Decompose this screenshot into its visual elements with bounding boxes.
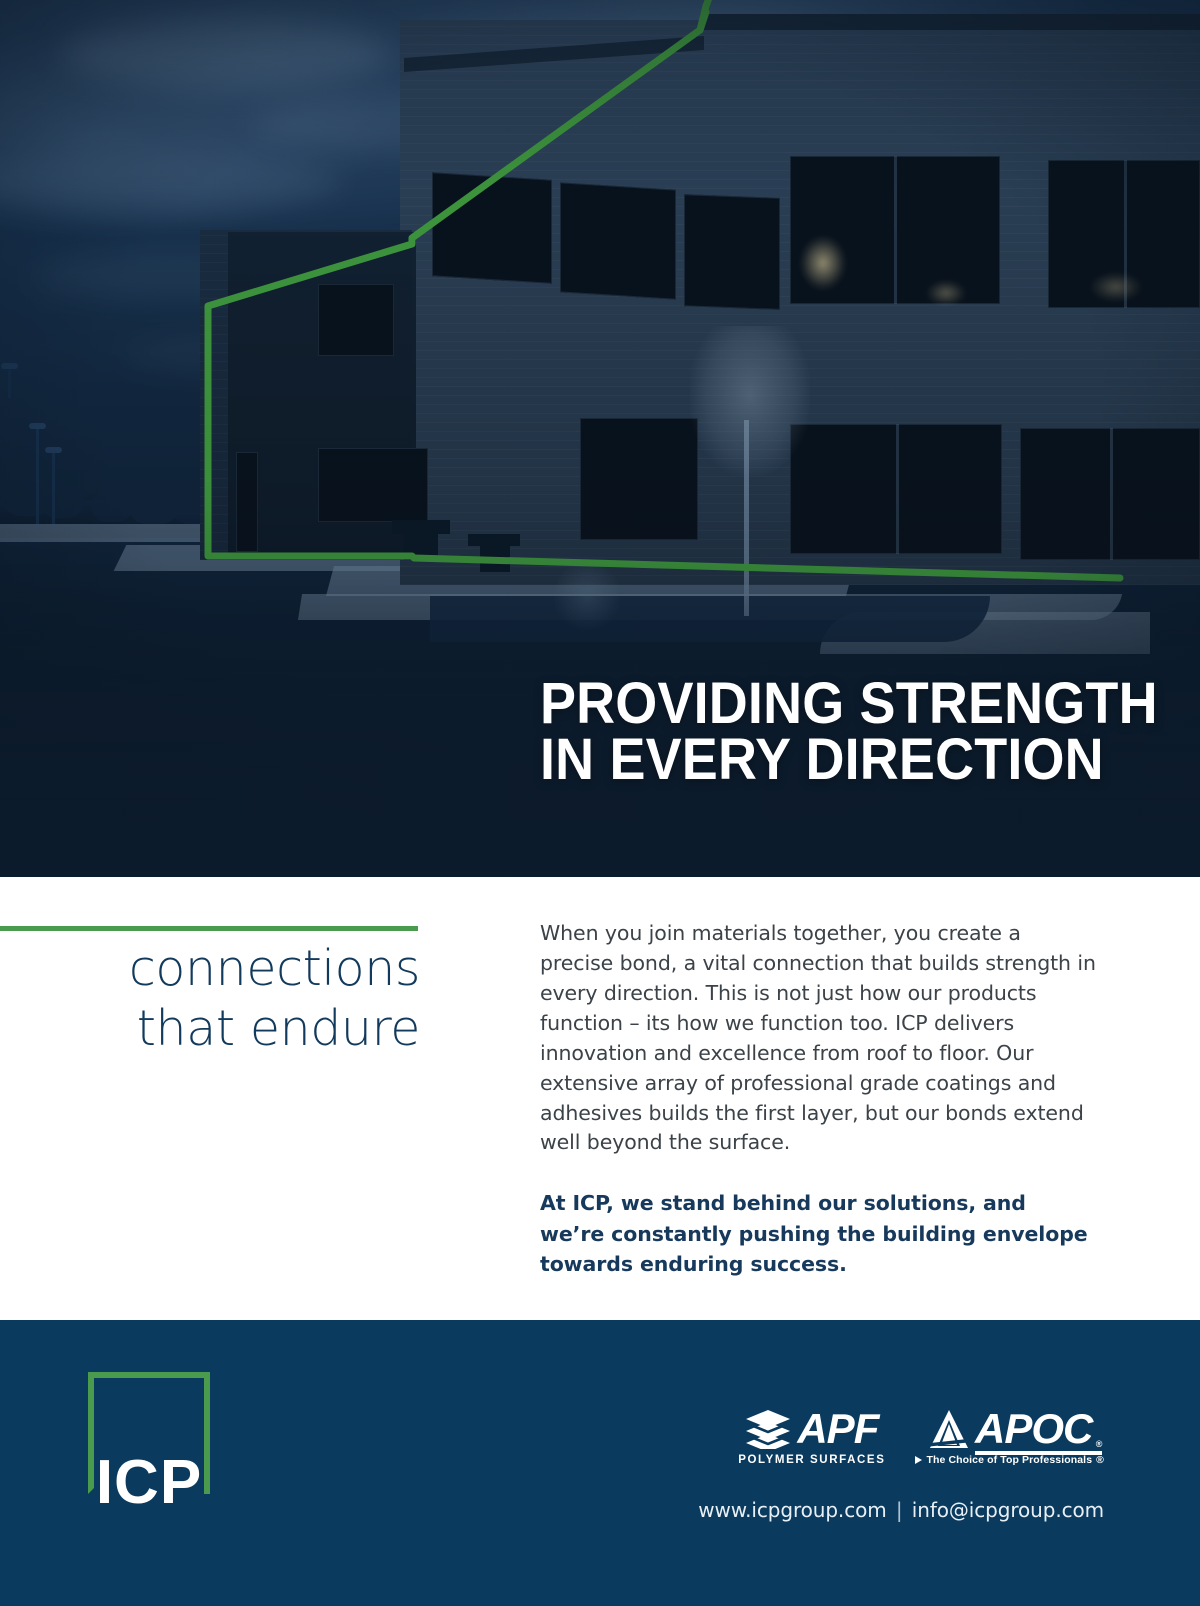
body-paragraph: When you join materials together, you cr… (540, 919, 1096, 1158)
apoc-logo[interactable]: APOC ® The Choice of Top Professionals ® (915, 1408, 1104, 1466)
apoc-tagline-row: The Choice of Top Professionals ® (915, 1454, 1104, 1466)
contact-line: www.icpgroup.com | info@icpgroup.com (698, 1498, 1104, 1522)
hero-image: PROVIDING STRENGTH IN EVERY DIRECTION (0, 0, 1200, 877)
headline-line-1: PROVIDING STRENGTH (540, 676, 1117, 732)
apoc-wordmark-text: APOC (975, 1405, 1092, 1452)
email-link[interactable]: info@icpgroup.com (912, 1498, 1104, 1522)
apf-wordmark: APF (797, 1408, 878, 1450)
apoc-tagline: The Choice of Top Professionals (926, 1454, 1092, 1466)
emphasis-paragraph: At ICP, we stand behind our solutions, a… (540, 1188, 1096, 1279)
apoc-registered-mark: ® (1096, 1440, 1102, 1449)
contact-separator: | (893, 1498, 906, 1522)
lead-line-2: that endure (0, 999, 420, 1059)
apoc-wordmark: APOC ® (975, 1408, 1092, 1450)
flyer-page: PROVIDING STRENGTH IN EVERY DIRECTION co… (0, 0, 1200, 1606)
apoc-underline-bar-icon (975, 1451, 1102, 1455)
body-copy-column: When you join materials together, you cr… (540, 919, 1096, 1279)
partner-brand-row: APF POLYMER SURFACES APOC (738, 1408, 1104, 1466)
apoc-logo-mark-row: APOC ® (927, 1408, 1092, 1450)
apf-tagline: POLYMER SURFACES (738, 1454, 885, 1466)
icp-logo[interactable]: ICP (88, 1372, 210, 1494)
website-link[interactable]: www.icpgroup.com (698, 1498, 886, 1522)
content-section: connections that endure When you join ma… (0, 877, 1200, 1320)
apoc-tagline-registered-mark: ® (1096, 1454, 1104, 1466)
footer-bar: ICP APF (0, 1320, 1200, 1606)
apf-logo-mark-row: APF (745, 1408, 878, 1450)
hero-headline: PROVIDING STRENGTH IN EVERY DIRECTION (540, 676, 1117, 787)
apf-logo[interactable]: APF POLYMER SURFACES (738, 1408, 885, 1466)
apoc-triangle-icon (927, 1408, 971, 1450)
play-triangle-icon (915, 1456, 922, 1464)
section-lead-heading: connections that endure (0, 939, 420, 1059)
icp-logo-text: ICP (76, 1452, 222, 1514)
apf-layers-icon (745, 1409, 791, 1449)
green-divider-rule (0, 926, 418, 931)
lead-line-1: connections (0, 939, 420, 999)
headline-line-2: IN EVERY DIRECTION (540, 732, 1117, 788)
